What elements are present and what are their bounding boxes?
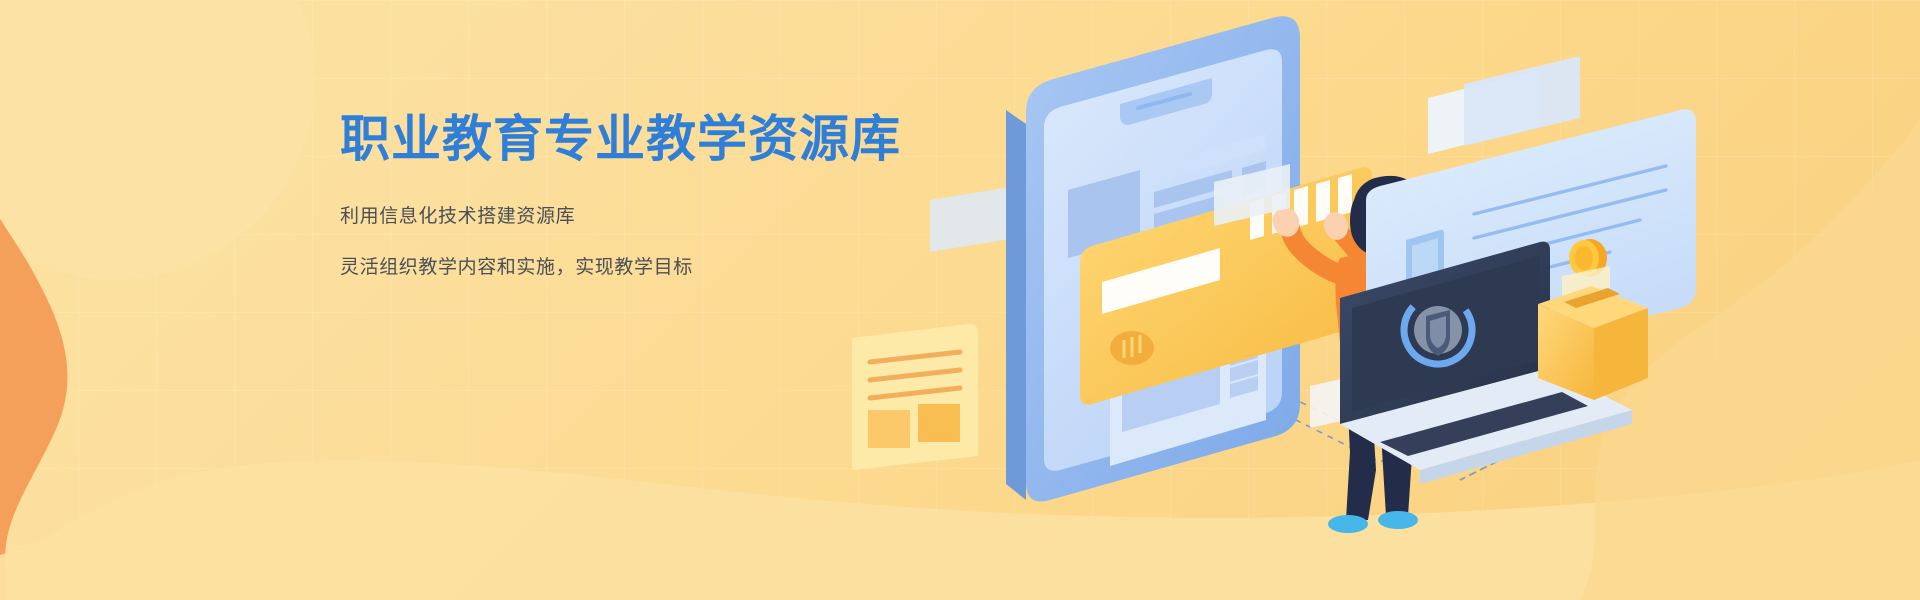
page-title: 职业教育专业教学资源库 [340, 110, 980, 169]
floating-card-top [1428, 56, 1580, 154]
document-card [852, 324, 978, 470]
hero-illustration [820, 0, 1920, 600]
banner-text-block: 职业教育专业教学资源库 利用信息化技术搭建资源库 灵活组织教学内容和实施，实现教… [340, 110, 980, 282]
banner-subtitle-line-1: 利用信息化技术搭建资源库 [340, 203, 980, 232]
hero-banner: 职业教育专业教学资源库 利用信息化技术搭建资源库 灵活组织教学内容和实施，实现教… [0, 0, 1920, 600]
banner-subtitle-line-2: 灵活组织教学内容和实施，实现教学目标 [340, 254, 980, 283]
illustration-svg [820, 0, 1920, 600]
